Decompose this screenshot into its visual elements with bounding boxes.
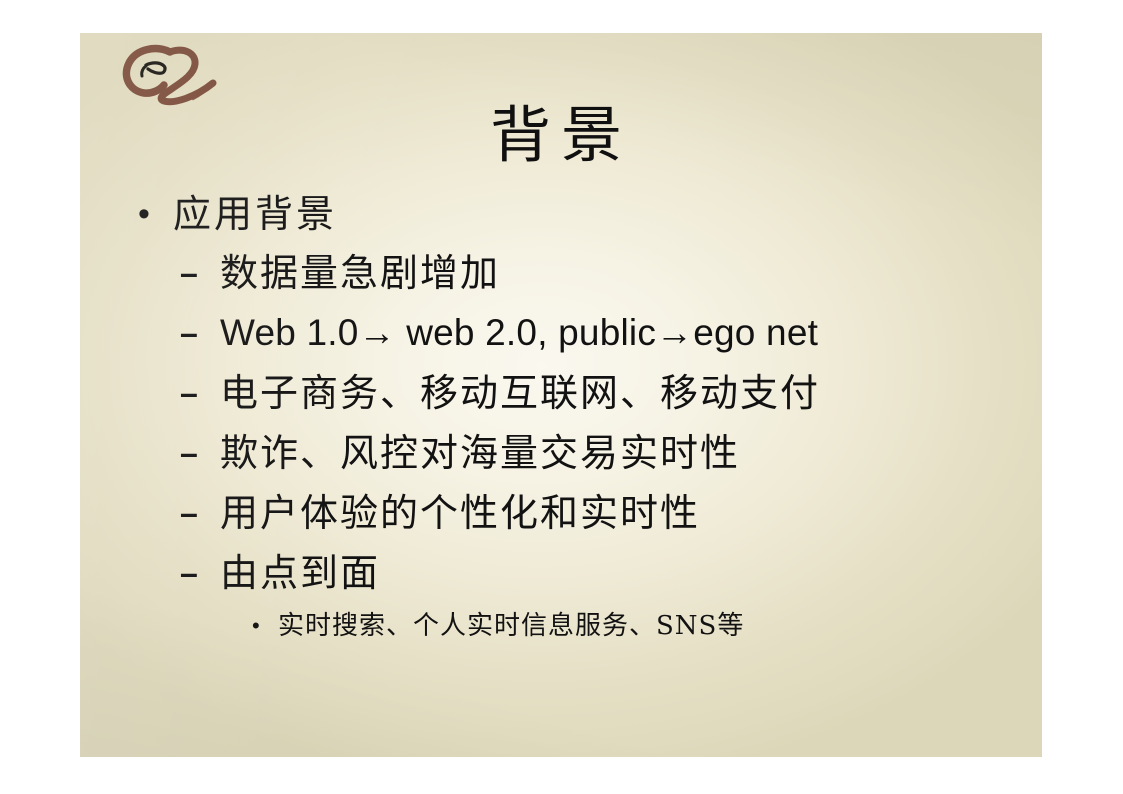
bullet-level2-item: – 由点到面: [80, 543, 1042, 603]
bullet-text: 应用背景: [173, 185, 337, 243]
bullet-level2-item: – 用户体验的个性化和实时性: [80, 483, 1042, 543]
bullet-level2-item: – 电子商务、移动互联网、移动支付: [80, 363, 1042, 423]
bullet-text: 数据量急剧增加: [220, 243, 500, 303]
bullet-dash-icon: –: [180, 423, 200, 483]
bullet-text: 电子商务、移动互联网、移动支付: [220, 363, 820, 423]
ez-calligraphy-logo: [112, 39, 232, 111]
bullet-dot-icon: •: [138, 185, 153, 243]
bullet-level2-item: – 数据量急剧增加: [80, 243, 1042, 303]
bullet-text: 用户体验的个性化和实时性: [220, 483, 700, 543]
bullet-level3-item: • 实时搜索、个人实时信息服务、SNS等: [80, 603, 1042, 649]
slide-title: 背景: [80, 105, 1042, 166]
bullet-text: 实时搜索、个人实时信息服务、SNS等: [278, 603, 744, 649]
bullet-dash-icon: –: [180, 543, 200, 603]
bullet-level2-item: – Web 1.0→ web 2.0, public→ego net: [80, 303, 1042, 363]
bullet-dash-icon: –: [180, 363, 200, 423]
presentation-slide: 背景 • 应用背景 – 数据量急剧增加 – Web 1.0→ web 2.0, …: [80, 33, 1042, 757]
bullet-text: 由点到面: [220, 543, 380, 603]
bullet-dash-icon: –: [180, 483, 200, 543]
bullet-text: 欺诈、风控对海量交易实时性: [220, 423, 740, 483]
bullet-dot-icon: •: [252, 603, 261, 649]
slide-body-list: • 应用背景 – 数据量急剧增加 – Web 1.0→ web 2.0, pub…: [80, 185, 1042, 649]
bullet-dash-icon: –: [180, 243, 200, 303]
bullet-level2-item: – 欺诈、风控对海量交易实时性: [80, 423, 1042, 483]
bullet-dash-icon: –: [180, 303, 198, 363]
slide-canvas: 背景 • 应用背景 – 数据量急剧增加 – Web 1.0→ web 2.0, …: [0, 0, 1123, 794]
bullet-text: Web 1.0→ web 2.0, public→ego net: [220, 303, 818, 363]
bullet-level1-item: • 应用背景: [80, 185, 1042, 243]
